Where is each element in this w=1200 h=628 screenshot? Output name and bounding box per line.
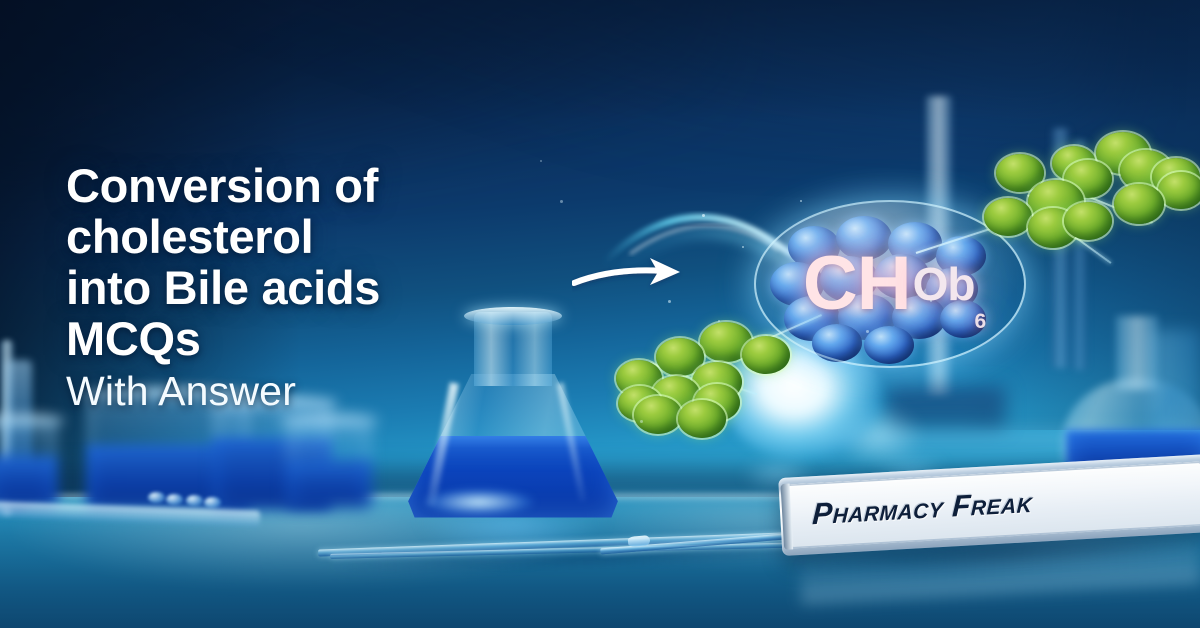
- beaker-rim: [0, 414, 65, 427]
- flask-liquid-glow: [424, 489, 534, 515]
- title-line-4: MCQs: [66, 313, 626, 364]
- particle: [866, 330, 869, 333]
- green-atom: [678, 400, 726, 438]
- tablet: [166, 494, 183, 505]
- formula-subscript: 6: [974, 311, 985, 332]
- page-title: Conversion of cholesterol into Bile acid…: [66, 160, 626, 418]
- particle: [930, 300, 932, 302]
- particle: [702, 214, 705, 217]
- green-atom: [1114, 184, 1164, 224]
- tablet: [204, 497, 221, 508]
- plaque-face: Pharmacy Freak: [787, 461, 1200, 548]
- formula-main: CH: [803, 246, 911, 322]
- title-line-3: into Bile acids: [66, 262, 626, 313]
- particle: [800, 200, 802, 202]
- green-molecule-cluster-top-right: [968, 132, 1200, 312]
- particle: [668, 300, 671, 303]
- brand-name: Pharmacy Freak: [811, 486, 1033, 532]
- particle: [742, 246, 744, 248]
- particle: [718, 320, 720, 322]
- green-atom: [634, 396, 682, 434]
- green-molecule-cluster-center: [604, 322, 814, 450]
- beaker-liquid: [286, 460, 372, 508]
- tablet: [148, 492, 165, 503]
- beaker-small-left: [0, 420, 58, 508]
- green-atom: [984, 198, 1032, 236]
- formula-secondary: Ob: [913, 261, 975, 307]
- tablet: [186, 495, 203, 506]
- green-atom: [1064, 202, 1112, 240]
- title-line-1: Conversion of: [66, 160, 626, 211]
- title-subtitle: With Answer: [66, 364, 626, 418]
- green-atom: [742, 336, 790, 374]
- beaker-right-rear: [286, 420, 372, 508]
- title-line-2: cholesterol: [66, 211, 626, 262]
- green-atom: [1158, 172, 1200, 209]
- banner-image: CH Ob 6: [0, 0, 1200, 628]
- particle: [640, 420, 643, 423]
- beaker-liquid: [0, 456, 58, 508]
